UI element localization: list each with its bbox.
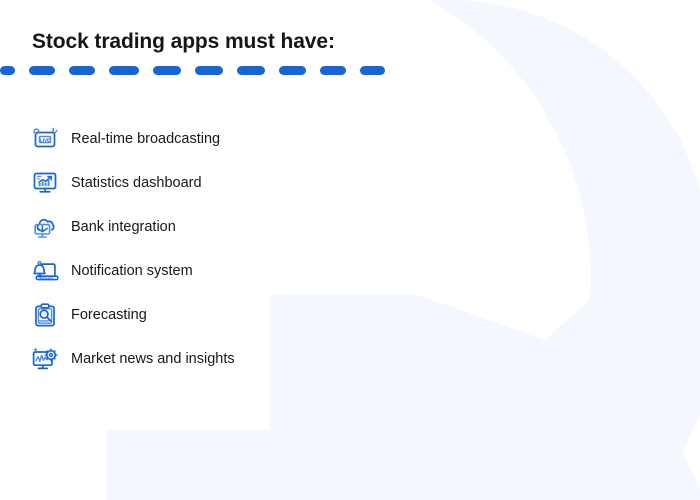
- feature-label: Forecasting: [71, 308, 147, 323]
- divider-dash: [279, 66, 306, 75]
- feature-list: LIVE Real-time broadcasting Statistics d…: [30, 117, 235, 381]
- divider-dash: [195, 66, 223, 75]
- feature-list-item: Statistics dashboard: [30, 161, 235, 205]
- feature-label: Notification system: [71, 264, 193, 279]
- laptop-notification-bell-icon: [30, 256, 60, 286]
- feature-label: Market news and insights: [71, 352, 235, 367]
- divider-dash: [109, 66, 139, 75]
- divider-dash: [0, 66, 15, 75]
- feature-list-item: Market news and insights: [30, 337, 235, 381]
- divider-dash: [153, 66, 181, 75]
- market-news-monitor-icon: [30, 344, 60, 374]
- forecast-clipboard-search-icon: [30, 300, 60, 330]
- page-title: Stock trading apps must have:: [32, 30, 335, 54]
- feature-list-item: Bank integration: [30, 205, 235, 249]
- divider-dash: [320, 66, 346, 75]
- divider-dash: [29, 66, 55, 75]
- bank-cloud-integration-icon: [30, 212, 60, 242]
- statistics-dashboard-icon: [30, 168, 60, 198]
- divider-dash: [237, 66, 265, 75]
- feature-label: Real-time broadcasting: [71, 132, 220, 147]
- feature-list-item: Notification system: [30, 249, 235, 293]
- feature-label: Statistics dashboard: [71, 176, 202, 191]
- slide-canvas: Stock trading apps must have: LIVE Real-…: [0, 0, 700, 500]
- dashed-divider: [0, 66, 399, 75]
- feature-list-item: Forecasting: [30, 293, 235, 337]
- feature-list-item: LIVE Real-time broadcasting: [30, 117, 235, 161]
- feature-label: Bank integration: [71, 220, 176, 235]
- divider-dash: [69, 66, 95, 75]
- svg-text:LIVE: LIVE: [40, 137, 50, 142]
- divider-dash: [360, 66, 385, 75]
- live-broadcast-icon: LIVE: [30, 124, 60, 154]
